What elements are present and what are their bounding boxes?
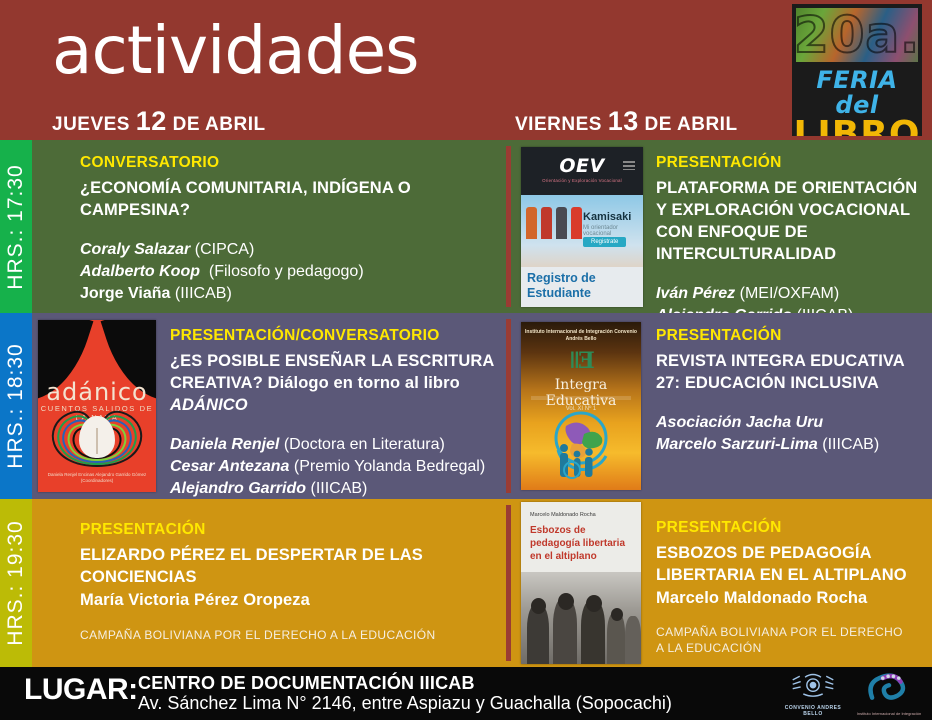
event-speakers: Daniela Renjel (Doctora en Literatura) C… <box>170 434 508 500</box>
speaker-affiliation: (IIICAB) <box>310 480 367 497</box>
time-label-1930: HRS.: 19:30 <box>4 520 28 645</box>
oev-cover-footer: Registro de Estudiante <box>521 267 643 307</box>
date-thursday-month: DE ABRIL <box>173 114 266 135</box>
book-cover-integra-educativa: Instituto Internacional de Integración C… <box>521 322 641 490</box>
logo-year-photo-collage: 20a. <box>792 4 922 66</box>
speaker-name: Iván Pérez <box>656 285 735 302</box>
speaker-name: Adalberto Koop <box>80 263 200 280</box>
time-column-1830: HRS.: 18:30 <box>0 313 32 499</box>
speaker-item: Iván Pérez (MEI/OXFAM) <box>656 283 926 305</box>
esbozos-photo <box>521 572 641 664</box>
speaker-name: Alejandro Garrido <box>170 480 306 497</box>
poster-header: actividades JUEVES 12 DE ABRIL VIERNES 1… <box>0 0 932 140</box>
schedule-row-1730: HRS.: 17:30 CONVERSATORIO ¿ECONOMÍA COMU… <box>0 140 932 313</box>
time-label-1730: HRS.: 17:30 <box>4 164 28 289</box>
event-title: REVISTA INTEGRA EDUCATIVA 27: EDUCACIÓN … <box>656 350 926 394</box>
cell-friday-1830: Instituto Internacional de Integración C… <box>513 313 932 499</box>
event-title: ELIZARDO PÉREZ EL DESPERTAR DE LAS CONCI… <box>80 544 498 588</box>
person-figure <box>541 207 552 239</box>
speaker-item: Marcelo Sarzuri-Lima (IIICAB) <box>656 434 926 456</box>
speaker-affiliation: (Doctora en Literatura) <box>284 436 445 453</box>
speaker-affiliation: (Filosofo y pedagogo) <box>209 263 364 280</box>
date-thursday: JUEVES 12 DE ABRIL <box>52 106 266 137</box>
event-title: ¿ECONOMÍA COMUNITARIA, INDÍGENA O CAMPES… <box>80 177 498 221</box>
decorative-rule <box>531 396 631 400</box>
event-kicker: PRESENTACIÓN <box>80 521 498 539</box>
venue-address: Av. Sánchez Lima N° 2146, entre Aspiazu … <box>138 693 672 714</box>
child-head <box>558 593 574 610</box>
event-kicker: PRESENTACIÓN <box>656 327 926 345</box>
oev-cover-hero: Kamisaki Mi orientador vocacional Regist… <box>521 195 643 267</box>
event-speakers: Coraly Salazar (CIPCA) Adalberto Koop (F… <box>80 239 498 305</box>
time-column-1730: HRS.: 17:30 <box>0 140 32 313</box>
hamburger-menu-icon <box>623 161 635 170</box>
logo-libro-text: LIBRO <box>792 118 922 136</box>
oev-logo-subtitle: Orientación y Exploración Vocacional <box>521 178 643 183</box>
book-cover-esbozos: Marcelo Maldonado Rocha Esbozos de pedag… <box>521 502 641 664</box>
speaker-affiliation: (IIICAB) <box>822 436 879 453</box>
speaker-name: Cesar Antezana <box>170 458 289 475</box>
oev-footer-text: Registro de Estudiante <box>527 271 643 301</box>
instituto-internacional-integracion-icon <box>852 671 926 703</box>
speaker-affiliation: (CIPCA) <box>195 241 255 258</box>
time-column-1930: HRS.: 19:30 <box>0 499 32 667</box>
child-head <box>586 595 602 612</box>
speaker-name: Daniela Renjel <box>170 436 279 453</box>
speaker-name: Asociación Jacha Uru <box>656 414 823 431</box>
apple-core <box>96 428 98 454</box>
person-figure <box>571 207 582 239</box>
venue-label: LUGAR: <box>24 673 138 707</box>
speaker-item: Adalberto Koop (Filosofo y pedagogo) <box>80 261 498 283</box>
date-friday-weekday: VIERNES <box>515 114 602 135</box>
instituto-internacional-integracion-text: Instituto Internacional de Integración <box>852 711 926 716</box>
date-friday-month: DE ABRIL <box>645 114 738 135</box>
book-cover-oev: OEV Orientación y Exploración Vocacional <box>521 147 643 307</box>
adanico-credit: Daniela Renjel Encinas Alejandro Garrido… <box>38 472 156 484</box>
instituto-internacional-integracion-logo: Instituto Internacional de Integración <box>852 671 926 717</box>
people-illustration <box>526 207 582 239</box>
event-title-tail: Diálogo en torno al libro <box>268 374 460 392</box>
logo-feria-text: FERIA del <box>792 68 922 118</box>
speaker-affiliation: (MEI/OXFAM) <box>740 285 840 302</box>
event-kicker: PRESENTACIÓN/CONVERSATORIO <box>170 327 508 345</box>
event-speakers: Asociación Jacha Uru Marcelo Sarzuri-Lim… <box>656 412 926 456</box>
speaker-item: Asociación Jacha Uru <box>656 412 926 434</box>
iiicab-monogram-icon: ǀǀƎ <box>521 348 641 374</box>
speaker-item: Jorge Viaña (IIICAB) <box>80 283 498 305</box>
speaker-name: Marcelo Sarzuri-Lima <box>656 436 818 453</box>
speaker-affiliation: (IIICAB) <box>175 285 232 302</box>
child-head <box>531 598 546 614</box>
event-title: ESBOZOS DE PEDAGOGÍA LIBERTARIA EN EL AL… <box>656 542 926 586</box>
campaign-note: CAMPAÑA BOLIVIANA POR EL DERECHO A LA ED… <box>656 624 906 656</box>
poster: actividades JUEVES 12 DE ABRIL VIERNES 1… <box>0 0 932 720</box>
cell-friday-1930: Marcelo Maldonado Rocha Esbozos de pedag… <box>513 499 932 667</box>
event-author: María Victoria Pérez Oropeza <box>80 589 498 611</box>
convenio-andres-bello-logo: CONVENIO ANDRES BELLO <box>784 671 842 717</box>
speaker-item: Coraly Salazar (CIPCA) <box>80 239 498 261</box>
oev-headline-sub: Mi orientador vocacional <box>583 225 643 237</box>
poster-footer: LUGAR: CENTRO DE DOCUMENTACIÓN IIICAB Av… <box>0 667 932 720</box>
person-figure <box>556 207 567 239</box>
event-author: Marcelo Maldonado Rocha <box>656 587 926 609</box>
oev-cover-topbar: OEV Orientación y Exploración Vocacional <box>521 147 643 195</box>
esbozos-title: Esbozos de pedagogía libertaria en el al… <box>530 524 634 563</box>
venue-name: CENTRO DE DOCUMENTACIÓN IIICAB <box>138 673 475 694</box>
date-thursday-weekday: JUEVES <box>52 114 130 135</box>
campaign-note: CAMPAÑA BOLIVIANA POR EL DERECHO A LA ED… <box>80 627 492 643</box>
event-kicker: PRESENTACIÓN <box>656 154 926 172</box>
speaker-item: Daniela Renjel (Doctora en Literatura) <box>170 434 508 456</box>
logo-year-frame <box>792 4 922 66</box>
schedule-row-1930: HRS.: 19:30 PRESENTACIÓN ELIZARDO PÉREZ … <box>0 499 932 667</box>
speaker-affiliation: (Premio Yolanda Bedregal) <box>294 458 485 475</box>
integra-publisher: Instituto Internacional de Integración C… <box>521 329 641 343</box>
speaker-name: Coraly Salazar <box>80 241 190 258</box>
date-friday: VIERNES 13 DE ABRIL <box>515 106 738 137</box>
speaker-item: Alejandro Garrido (IIICAB) <box>170 478 508 500</box>
convenio-andres-bello-text: CONVENIO ANDRES BELLO <box>784 705 842 717</box>
child-head <box>611 608 623 621</box>
event-title: PLATAFORMA DE ORIENTACIÓN Y EXPLORACIÓN … <box>656 177 926 265</box>
event-title: ¿ES POSIBLE ENSEÑAR LA ESCRITURA CREATIV… <box>170 350 508 416</box>
person-figure <box>526 207 537 239</box>
event-kicker: CONVERSATORIO <box>80 154 498 172</box>
schedule-row-1830: HRS.: 18:30 adánico CUENTOS SALIDOS DE L… <box>0 313 932 499</box>
speaker-name: Jorge Viaña <box>80 285 170 302</box>
event-title-book: ADÁNICO <box>170 396 248 414</box>
oev-register-button: Registrate <box>583 237 626 247</box>
footer-logos: CONVENIO ANDRES BELLO Instituto Internac… <box>776 670 926 718</box>
cell-friday-1730: OEV Orientación y Exploración Vocacional <box>513 140 932 313</box>
convenio-andres-bello-icon <box>784 671 842 701</box>
schedule-grid: HRS.: 17:30 CONVERSATORIO ¿ECONOMÍA COMU… <box>0 140 932 667</box>
cell-thursday-1730: CONVERSATORIO ¿ECONOMÍA COMUNITARIA, IND… <box>32 140 508 313</box>
page-title: actividades <box>52 18 419 84</box>
child-figure <box>625 616 641 664</box>
cell-thursday-1930: PRESENTACIÓN ELIZARDO PÉREZ EL DESPERTAR… <box>32 499 508 667</box>
speaker-item: Cesar Antezana (Premio Yolanda Bedregal) <box>170 456 508 478</box>
time-label-1830: HRS.: 18:30 <box>4 343 28 468</box>
book-cover-adanico: adánico CUENTOS SALIDOS DE LA NADA <box>38 320 156 492</box>
cell-thursday-1830: adánico CUENTOS SALIDOS DE LA NADA <box>32 313 508 499</box>
date-friday-day: 13 <box>608 106 639 136</box>
date-thursday-day: 12 <box>136 106 167 136</box>
oev-headline: Kamisaki <box>583 211 631 223</box>
feria-del-libro-logo: 20a. FERIA del LIBRO DE EDUCACIÓN Y CIEN… <box>792 4 922 136</box>
event-kicker: PRESENTACIÓN <box>656 519 926 537</box>
globe-and-people-illustration <box>538 404 624 480</box>
esbozos-author: Marcelo Maldonado Rocha <box>530 512 596 518</box>
